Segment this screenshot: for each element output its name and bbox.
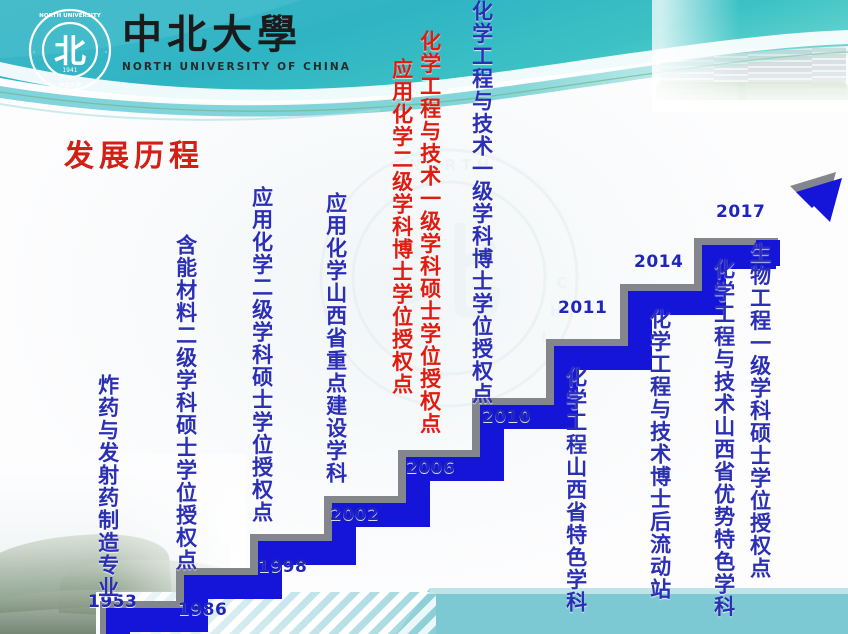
milestone-caption-2010-0: 化学工程与技术一级学科博士学位授权点 (470, 0, 492, 408)
campus-photo-fade (652, 0, 848, 112)
watermark-seal: 北 N O R T H C H I (312, 138, 586, 424)
svg-text:北: 北 (54, 32, 86, 70)
milestone-caption-2006-1: 化学工程与技术一级学科硕士学位授权点 (418, 30, 440, 454)
milestone-caption-2017-1: 生物工程一级学科硕士学位授权点 (748, 242, 770, 582)
svg-text:NORTH UNIVERSITY: NORTH UNIVERSITY (39, 13, 102, 19)
university-seal-logo: 北 1941 NORTH UNIVERSITY 中北大学 · · (28, 8, 112, 92)
milestone-caption-2014-0: 化学工程与技术博士后流动站 (648, 308, 670, 600)
year-label-2017: 2017 (716, 202, 765, 222)
milestone-caption-1986-0: 含能材料二级学科硕士学位授权点 (174, 234, 196, 586)
milestone-caption-1953-0: 炸药与发射药制造专业 (96, 374, 118, 586)
year-label-2002: 2002 (330, 505, 379, 525)
university-name-cn-text: 中北大學 (122, 12, 351, 58)
year-label-2010: 2010 (482, 407, 531, 427)
milestone-caption-2006-0: 应用化学二级学科博士学位授权点 (390, 58, 412, 452)
svg-text:·: · (105, 50, 107, 56)
svg-text:C: C (556, 274, 567, 292)
svg-text:I: I (541, 328, 547, 346)
year-label-2006: 2006 (406, 458, 455, 478)
svg-text:·: · (33, 50, 35, 56)
year-label-2014: 2014 (634, 252, 683, 272)
university-name-cn: 中北大學 NORTH UNIVERSITY OF CHINA (122, 12, 351, 73)
svg-text:中北大学: 中北大学 (59, 81, 82, 89)
page-title: 发展历程 (64, 131, 204, 175)
university-name-en-text: NORTH UNIVERSITY OF CHINA (122, 61, 351, 73)
milestone-caption-2002-0: 应用化学山西省重点建设学科 (324, 192, 346, 498)
year-label-1998: 1998 (258, 557, 307, 577)
svg-text:1941: 1941 (62, 67, 77, 74)
milestone-caption-1998-0: 应用化学二级学科硕士学位授权点 (250, 186, 272, 538)
milestone-caption-2011-0: 化学工程山西省特色学科 (564, 366, 586, 602)
slide-canvas: 北 N O R T H C H I (0, 0, 848, 634)
milestone-caption-2017-0: 化学工程与技术山西省优势特色学科 (712, 258, 734, 604)
year-label-1986: 1986 (178, 600, 227, 620)
year-label-2011: 2011 (558, 298, 607, 318)
